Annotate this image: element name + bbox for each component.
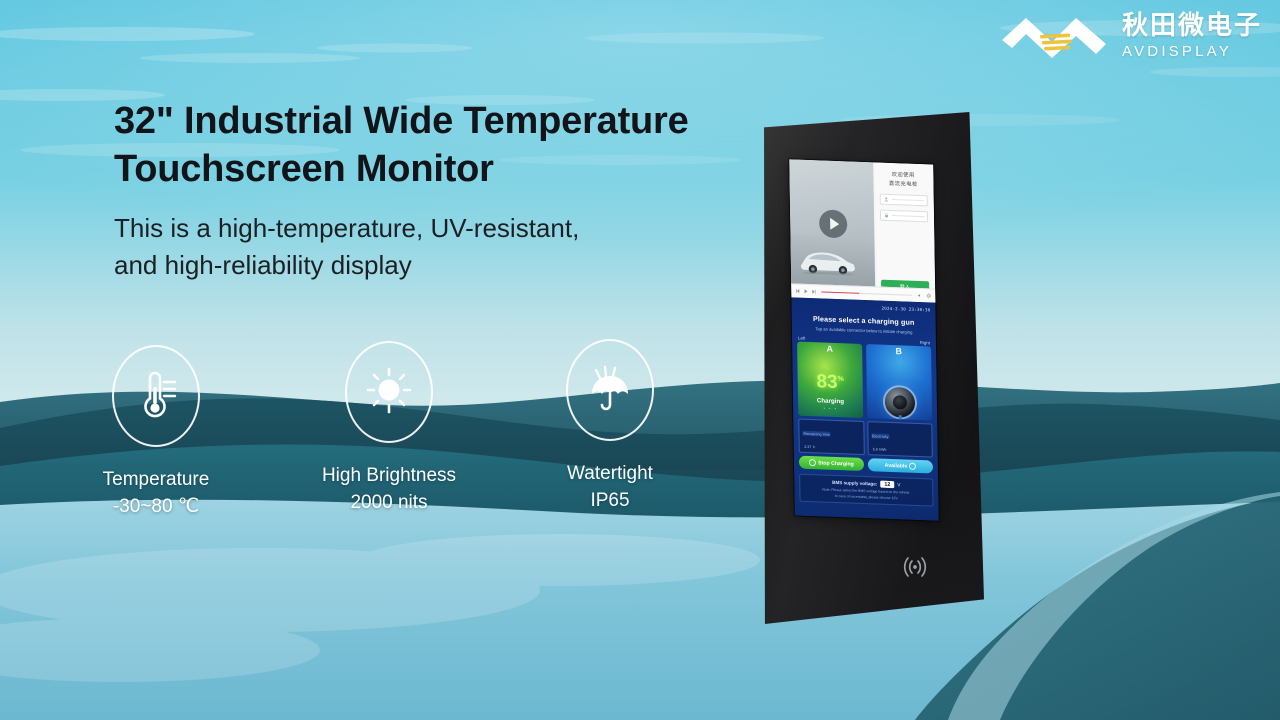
feature-value: 2000 nits bbox=[299, 490, 479, 517]
slide-canvas: 秋田微电子 AVDISPLAY 32" Industrial Wide Temp… bbox=[0, 0, 1280, 720]
logo-chinese-name: 秋田微电子 bbox=[1122, 13, 1262, 39]
stat-remaining-time: Remaining time 2:37h bbox=[798, 418, 864, 455]
umbrella-rain-icon bbox=[585, 364, 635, 416]
feature-caption: High Brightness 2000 nits bbox=[299, 463, 479, 517]
power-ring-icon bbox=[909, 463, 916, 470]
subhead-line-1: This is a high-temperature, UV-resistant… bbox=[114, 210, 774, 247]
username-field[interactable] bbox=[879, 193, 928, 206]
avdisplay-wave-mark-icon bbox=[1000, 10, 1112, 62]
status-bar: 2024-2-30 23:30:30 bbox=[796, 301, 930, 315]
stat-value: 2:37h bbox=[803, 440, 861, 452]
feature-ring bbox=[345, 341, 433, 443]
stat-number: 5.9 bbox=[873, 447, 878, 451]
touchscreen-display[interactable]: 欢迎使用 直流充电桩 bbox=[789, 159, 939, 521]
stat-unit: kWh bbox=[879, 447, 886, 451]
hero-copy: 32" Industrial Wide Temperature Touchscr… bbox=[114, 98, 774, 285]
thermometer-icon bbox=[133, 370, 179, 422]
feature-temperature: Temperature -30~80 ℃ bbox=[66, 345, 246, 521]
brand-logo: 秋田微电子 AVDISPLAY bbox=[1000, 10, 1262, 62]
status-timestamp: 2024-2-30 23:30:30 bbox=[881, 306, 930, 313]
feature-caption: Watertight IP65 bbox=[520, 461, 700, 515]
video-login-app: 欢迎使用 直流充电桩 bbox=[789, 159, 935, 302]
feature-label: Temperature bbox=[103, 469, 210, 490]
stat-electricity: Electricity 5.9kWh bbox=[867, 421, 933, 458]
gun-a-activity-dots: • • • bbox=[798, 404, 863, 411]
gun-action-buttons: Stop Charging Available bbox=[799, 456, 933, 474]
bms-label: BMS supply voltage: bbox=[832, 480, 877, 487]
feature-label: Watertight bbox=[567, 463, 653, 484]
headline-line-1: 32" Industrial Wide Temperature bbox=[114, 98, 774, 146]
stat-label: Remaining time bbox=[802, 431, 830, 437]
feature-value: IP65 bbox=[520, 488, 700, 515]
gun-a-percent-unit: % bbox=[838, 375, 844, 382]
gun-a-percent: 83% bbox=[798, 371, 863, 392]
bms-voltage-input[interactable]: 12 bbox=[880, 481, 894, 489]
page-subtitle: This is a high-temperature, UV-resistant… bbox=[114, 210, 774, 285]
page-title: 32" Industrial Wide Temperature Touchscr… bbox=[114, 98, 774, 194]
bms-voltage-panel: BMS supply voltage: 12 V Note: Please se… bbox=[799, 474, 933, 507]
feature-ring bbox=[112, 345, 200, 447]
power-ring-icon bbox=[809, 459, 816, 466]
contactless-nfc-icon bbox=[900, 552, 930, 582]
login-title-line-2: 直流充电桩 bbox=[879, 179, 928, 190]
gun-card-a[interactable]: A 83% Charging • • • bbox=[797, 341, 863, 417]
available-label: Available bbox=[885, 463, 908, 470]
kiosk-device: 欢迎使用 直流充电桩 bbox=[760, 112, 984, 624]
bms-unit: V bbox=[897, 483, 900, 488]
next-icon[interactable] bbox=[811, 289, 816, 294]
password-placeholder bbox=[892, 215, 924, 217]
feature-label: High Brightness bbox=[322, 465, 456, 486]
connector-cable bbox=[898, 415, 901, 420]
password-field[interactable] bbox=[879, 209, 928, 222]
login-title: 欢迎使用 直流充电桩 bbox=[879, 171, 928, 191]
stop-charging-button[interactable]: Stop Charging bbox=[799, 456, 864, 471]
charging-stats: Remaining time 2:37h Electricity 5.9kWh bbox=[798, 418, 933, 458]
gun-selector: A 83% Charging • • • B bbox=[797, 341, 932, 420]
stop-charging-label: Stop Charging bbox=[818, 460, 854, 467]
video-pane[interactable] bbox=[789, 159, 878, 300]
username-placeholder bbox=[891, 199, 923, 201]
ev-charging-app: 2024-2-30 23:30:30 Please select a charg… bbox=[791, 297, 938, 520]
play-icon[interactable] bbox=[803, 289, 808, 294]
gun-a-percent-value: 83 bbox=[816, 371, 837, 393]
progress-scrubber[interactable] bbox=[821, 291, 912, 296]
gear-icon[interactable] bbox=[926, 293, 931, 298]
previous-icon[interactable] bbox=[795, 288, 800, 293]
feature-caption: Temperature -30~80 ℃ bbox=[66, 467, 246, 521]
stat-number: 2:37 bbox=[804, 444, 811, 448]
bms-note: Note: Please select the BMS voltage base… bbox=[804, 487, 928, 502]
logo-english-name: AVDISPLAY bbox=[1122, 44, 1232, 59]
headline-line-2: Touchscreen Monitor bbox=[114, 146, 774, 194]
gun-a-id: A bbox=[797, 342, 862, 354]
login-panel: 欢迎使用 直流充电桩 bbox=[873, 162, 936, 302]
feature-watertight: Watertight IP65 bbox=[520, 339, 700, 515]
subhead-line-2: and high-reliability display bbox=[114, 247, 774, 284]
side-right-label: Right bbox=[920, 340, 930, 345]
user-icon bbox=[883, 197, 888, 202]
volume-icon[interactable] bbox=[917, 293, 922, 298]
available-button[interactable]: Available bbox=[868, 459, 933, 474]
connector-socket-icon bbox=[884, 386, 914, 417]
feature-brightness: High Brightness 2000 nits bbox=[299, 341, 479, 517]
stat-value: 5.9kWh bbox=[871, 443, 929, 455]
sun-icon bbox=[364, 366, 414, 418]
feature-ring bbox=[566, 339, 654, 441]
play-icon[interactable] bbox=[819, 210, 847, 239]
gun-card-b[interactable]: B bbox=[866, 344, 932, 420]
feature-value: -30~80 ℃ bbox=[66, 494, 246, 521]
electric-car-illustration bbox=[797, 246, 859, 276]
stat-label: Electricity bbox=[871, 433, 890, 439]
side-left-label: Left bbox=[798, 335, 805, 340]
gun-b-id: B bbox=[866, 345, 931, 357]
stat-unit: h bbox=[813, 445, 815, 449]
lock-icon bbox=[884, 213, 889, 218]
